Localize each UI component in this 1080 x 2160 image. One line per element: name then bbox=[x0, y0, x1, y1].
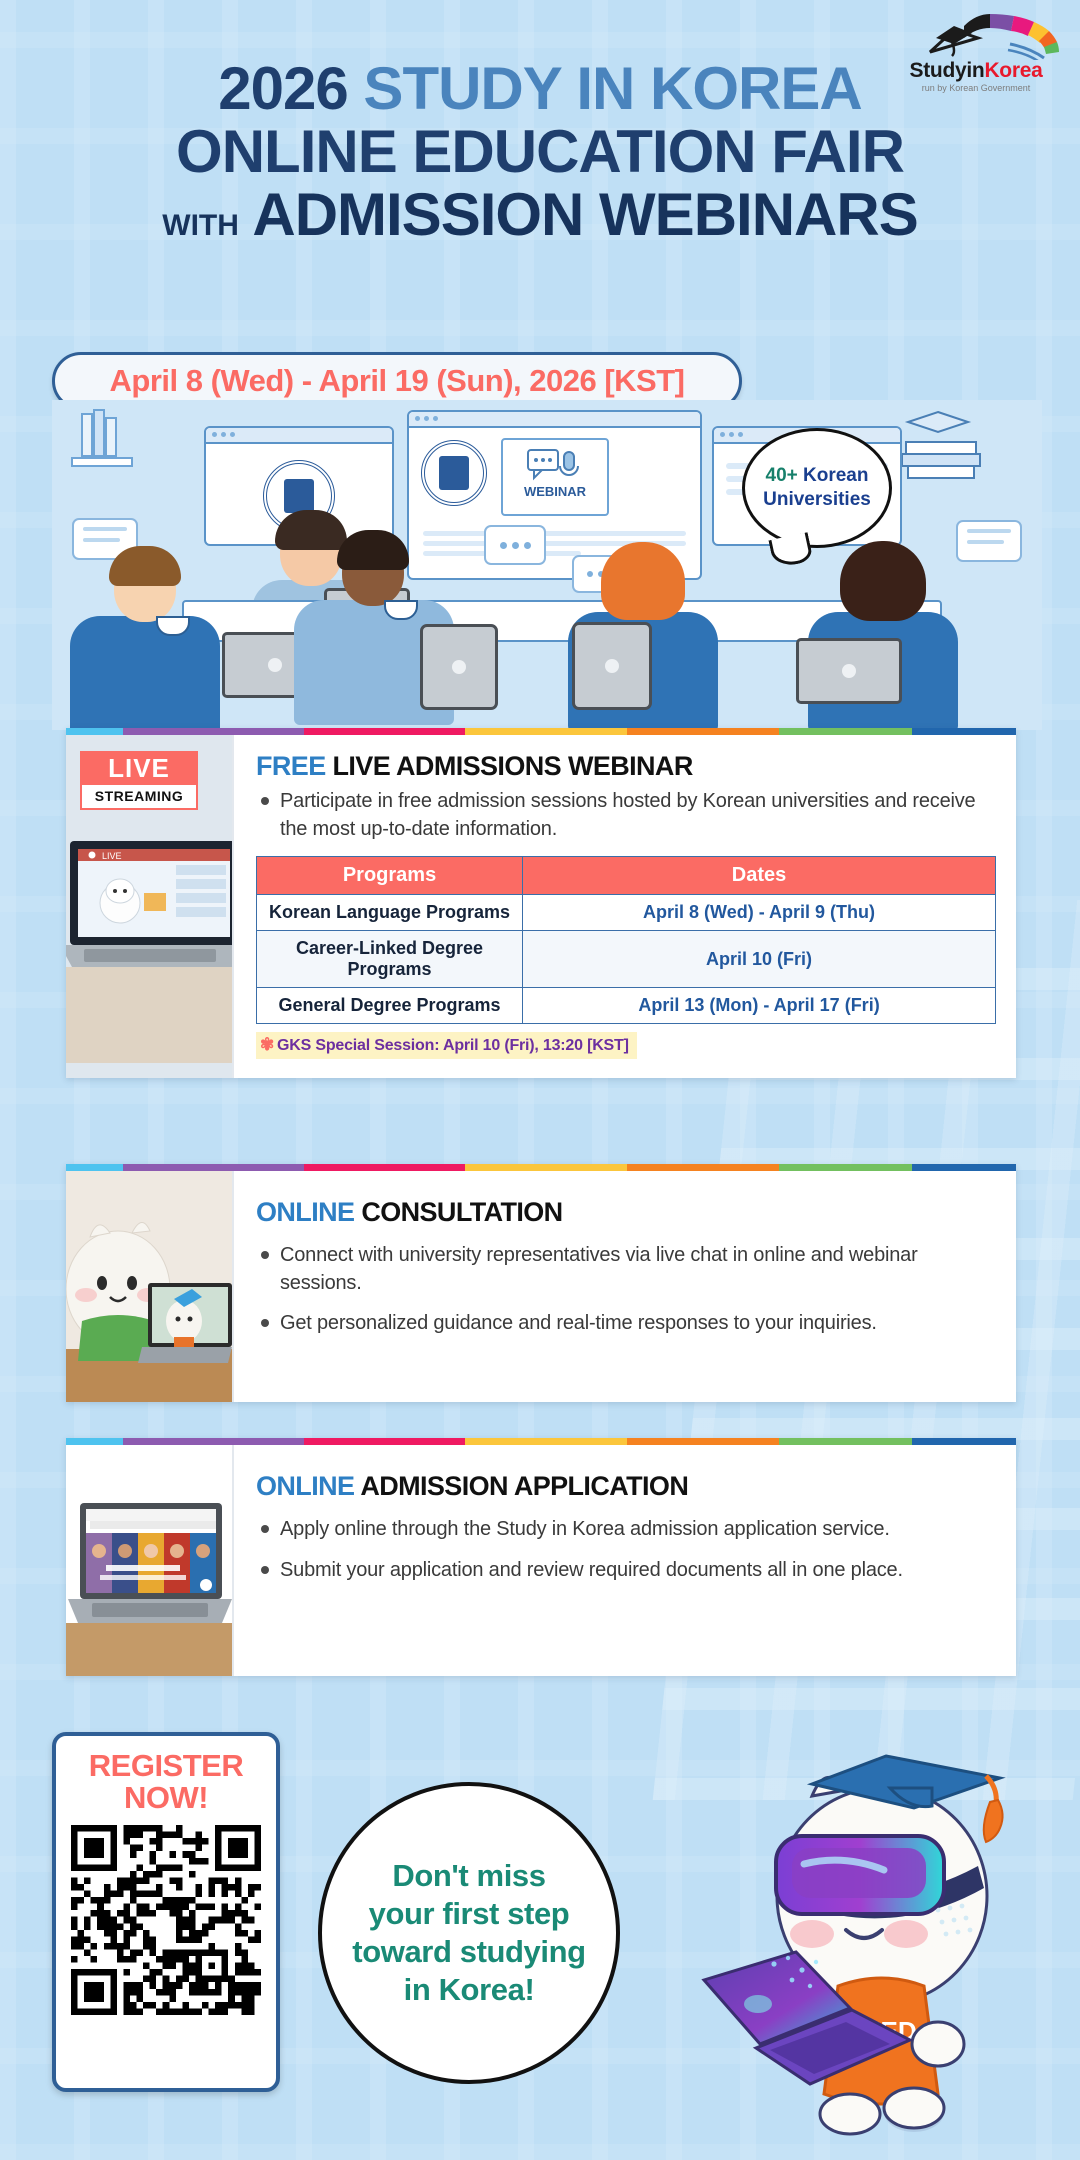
books-and-cap-icon bbox=[884, 406, 1024, 516]
niied-mascot-illustration: NIIED bbox=[700, 1748, 1040, 2140]
list-item: Connect with university representatives … bbox=[256, 1242, 996, 1297]
closing-message-bubble: Don't miss your first step toward studyi… bbox=[318, 1782, 620, 2084]
bubble-line-2: Universities bbox=[763, 488, 871, 512]
table-row: Korean Language Programs April 8 (Wed) -… bbox=[257, 895, 996, 931]
headline-line-2: ONLINE EDUCATION FAIR bbox=[0, 121, 1080, 182]
live-streaming-badge: LIVE STREAMING bbox=[80, 751, 198, 810]
card-body: LIVE STREAMING LIVE bbox=[66, 735, 1016, 1078]
list-item: Participate in free admission sessions h… bbox=[256, 788, 996, 843]
live-badge-streaming-text: STREAMING bbox=[82, 785, 196, 808]
screen-center-content: WEBINAR bbox=[409, 428, 700, 526]
gks-special-session-note: ✾GKS Special Session: April 10 (Fri), 13… bbox=[256, 1032, 637, 1059]
section-title-consultation: ONLINE CONSULTATION bbox=[256, 1197, 996, 1228]
section-title-rest: CONSULTATION bbox=[361, 1197, 562, 1227]
list-item: Apply online through the Study in Korea … bbox=[256, 1516, 996, 1544]
person-head bbox=[342, 538, 404, 606]
bullet-list-application: Apply online through the Study in Korea … bbox=[256, 1516, 996, 1584]
section-title-rest: ADMISSION APPLICATION bbox=[360, 1471, 688, 1501]
cell-program: Career-Linked Degree Programs bbox=[257, 931, 523, 988]
closing-line-3: toward studying bbox=[352, 1933, 585, 1971]
mascot-svg: NIIED bbox=[700, 1748, 1040, 2140]
bullet-list-live-webinar: Participate in free admission sessions h… bbox=[256, 788, 996, 843]
laptop-icon bbox=[796, 638, 902, 704]
chat-bubble-icon bbox=[956, 520, 1022, 562]
event-date-text: April 8 (Wed) - April 19 (Sun), 2026 [KS… bbox=[110, 363, 685, 399]
color-stripe bbox=[66, 1438, 1016, 1445]
list-item: Get personalized guidance and real-time … bbox=[256, 1310, 996, 1338]
person-head bbox=[612, 550, 674, 618]
poster-page: StudyinKorea run by Korean Government 20… bbox=[0, 0, 1080, 2160]
closing-message-text: Don't miss your first step toward studyi… bbox=[338, 1857, 599, 2008]
cell-program: General Degree Programs bbox=[257, 988, 523, 1024]
screen-dots bbox=[206, 428, 392, 441]
qr-code[interactable] bbox=[71, 1825, 261, 2015]
column-header-dates: Dates bbox=[523, 857, 996, 895]
hero-illustration: WEBINAR bbox=[52, 400, 1042, 730]
column-header-programs: Programs bbox=[257, 857, 523, 895]
cell-date: April 10 (Fri) bbox=[523, 931, 996, 988]
person-head bbox=[114, 554, 176, 622]
bubble-line-1: 40+ Korean bbox=[766, 464, 869, 488]
live-stream-thumbnail: LIVE STREAMING LIVE bbox=[66, 735, 232, 1078]
bookshelf-icon bbox=[62, 408, 202, 498]
section-title-highlight: ONLINE bbox=[256, 1197, 354, 1227]
screen-left-titlebar bbox=[206, 428, 392, 444]
headline-line-1: 2026 STUDY IN KOREA bbox=[0, 58, 1080, 119]
universities-count-bubble: 40+ Korean Universities bbox=[742, 428, 892, 548]
consultation-thumbnail bbox=[66, 1171, 232, 1402]
section-title-highlight: ONLINE bbox=[256, 1471, 354, 1501]
headline-admission-webinars: ADMISSION WEBINARS bbox=[252, 181, 917, 248]
color-stripe bbox=[66, 1164, 1016, 1171]
person-head bbox=[280, 518, 342, 586]
university-seal-icon bbox=[421, 440, 487, 506]
cell-date: April 13 (Mon) - April 17 (Fri) bbox=[523, 988, 996, 1024]
logo-swoosh-icon bbox=[892, 8, 1060, 60]
register-now-card[interactable]: REGISTER NOW! bbox=[52, 1732, 280, 2092]
application-thumbnail bbox=[66, 1445, 232, 1676]
table-header-row: Programs Dates bbox=[257, 857, 996, 895]
person-body bbox=[70, 616, 220, 730]
card-body: ONLINE ADMISSION APPLICATION Apply onlin… bbox=[66, 1445, 1016, 1676]
person-head bbox=[852, 550, 914, 618]
register-label-line2: NOW! bbox=[56, 1782, 276, 1814]
chat-bubble-dots-icon bbox=[484, 525, 546, 565]
register-label-line1: REGISTER bbox=[56, 1750, 276, 1782]
headline-year: 2026 bbox=[218, 55, 347, 122]
headline-with: WITH bbox=[162, 209, 239, 242]
cell-program: Korean Language Programs bbox=[257, 895, 523, 931]
gks-note-text: GKS Special Session: April 10 (Fri), 13:… bbox=[277, 1037, 629, 1054]
section-card-online-consultation: ONLINE CONSULTATION Connect with univers… bbox=[66, 1164, 1016, 1402]
section-title-rest: LIVE ADMISSIONS WEBINAR bbox=[333, 751, 693, 781]
card-text: ONLINE CONSULTATION Connect with univers… bbox=[232, 1171, 1016, 1402]
section-card-online-admission-application: ONLINE ADMISSION APPLICATION Apply onlin… bbox=[66, 1438, 1016, 1676]
color-stripe bbox=[66, 728, 1016, 735]
webinar-label: WEBINAR bbox=[503, 484, 607, 499]
closing-line-1: Don't miss bbox=[352, 1857, 585, 1895]
section-title-highlight: FREE bbox=[256, 751, 326, 781]
svg-text:LIVE: LIVE bbox=[102, 851, 122, 861]
page-title: 2026 STUDY IN KOREA ONLINE EDUCATION FAI… bbox=[0, 58, 1080, 246]
closing-line-2: your first step bbox=[352, 1895, 585, 1933]
student-1 bbox=[114, 554, 220, 730]
programs-schedule-table: Programs Dates Korean Language Programs … bbox=[256, 856, 996, 1024]
closing-line-4: in Korea! bbox=[352, 1971, 585, 2009]
section-card-live-webinar: LIVE STREAMING LIVE bbox=[66, 728, 1016, 1078]
card-text: FREE LIVE ADMISSIONS WEBINAR Participate… bbox=[232, 735, 1016, 1078]
bubble-korean-word: Korean bbox=[803, 465, 868, 486]
section-title-application: ONLINE ADMISSION APPLICATION bbox=[256, 1471, 996, 1502]
list-item: Submit your application and review requi… bbox=[256, 1557, 996, 1585]
bullet-list-consultation: Connect with university representatives … bbox=[256, 1242, 996, 1338]
table-row: General Degree Programs April 13 (Mon) -… bbox=[257, 988, 996, 1024]
table-row: Career-Linked Degree Programs April 10 (… bbox=[257, 931, 996, 988]
screen-center-titlebar bbox=[409, 412, 700, 428]
headline-study-in-korea: STUDY IN KOREA bbox=[363, 55, 861, 122]
tablet-icon bbox=[572, 622, 652, 710]
live-badge-live-text: LIVE bbox=[82, 753, 196, 785]
tablet-icon bbox=[420, 624, 498, 710]
chat-mic-icon bbox=[526, 448, 584, 484]
laptop-website-illustration bbox=[66, 1445, 232, 1676]
flower-star-icon: ✾ bbox=[260, 1035, 274, 1054]
universities-count: 40+ bbox=[766, 465, 798, 486]
card-body: ONLINE CONSULTATION Connect with univers… bbox=[66, 1171, 1016, 1402]
webinar-card: WEBINAR bbox=[501, 438, 609, 516]
laptop-photo-illustration: LIVE bbox=[66, 833, 232, 1063]
screen-dots bbox=[409, 412, 700, 425]
section-title-live-webinar: FREE LIVE ADMISSIONS WEBINAR bbox=[256, 751, 996, 782]
headline-line-3: WITH ADMISSION WEBINARS bbox=[0, 184, 1080, 245]
mascot-video-call-illustration bbox=[66, 1171, 232, 1402]
card-text: ONLINE ADMISSION APPLICATION Apply onlin… bbox=[232, 1445, 1016, 1676]
cell-date: April 8 (Wed) - April 9 (Thu) bbox=[523, 895, 996, 931]
